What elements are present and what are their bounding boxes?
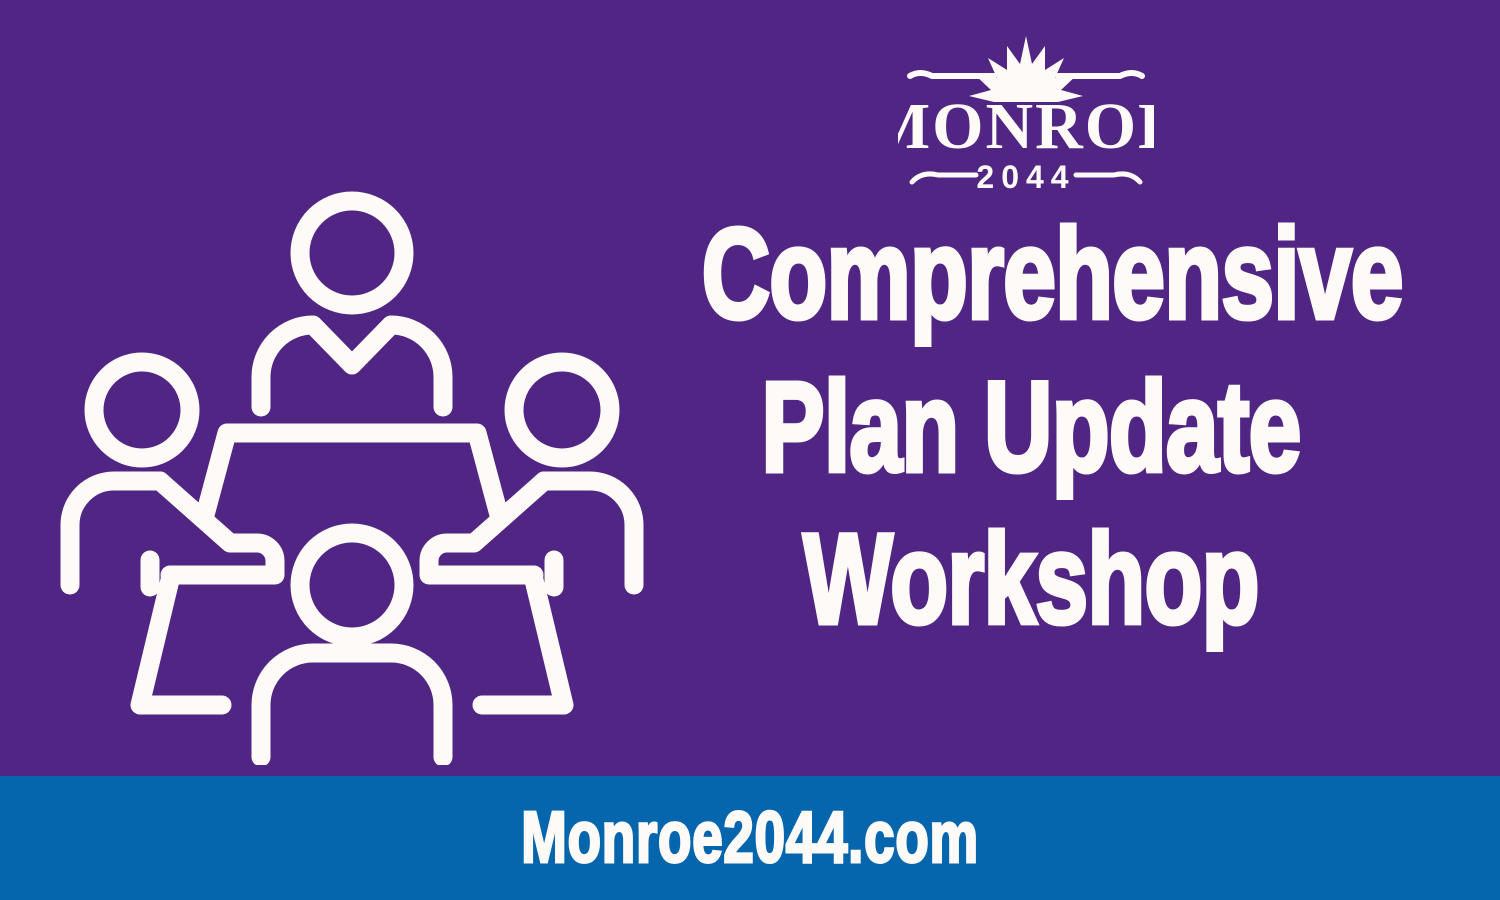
person-left-head xyxy=(94,362,190,458)
person-right-leg xyxy=(482,580,564,705)
logo-year: 2044 xyxy=(976,159,1075,195)
title-line-2: Plan Update xyxy=(702,365,1361,492)
meeting-table xyxy=(205,433,499,515)
title-line-3: Workshop xyxy=(702,517,1361,644)
monroe-2044-logo: MONROE 2044 xyxy=(898,30,1154,198)
title-line-1: Comprehensive xyxy=(702,212,1361,339)
person-top-body xyxy=(261,325,443,407)
page-title: Comprehensive Plan Update Workshop xyxy=(586,212,1476,644)
event-banner: MONROE 2044 xyxy=(0,0,1500,900)
person-bottom-body xyxy=(261,653,443,757)
person-bottom-head xyxy=(300,533,404,637)
logo-wordmark: MONROE xyxy=(898,90,1154,163)
person-top-head xyxy=(300,201,404,305)
footer-bar: Monroe2044.com xyxy=(0,776,1500,900)
website-url[interactable]: Monroe2044.com xyxy=(521,797,979,879)
person-left-leg xyxy=(140,580,222,705)
people-at-table-icon xyxy=(52,185,652,765)
